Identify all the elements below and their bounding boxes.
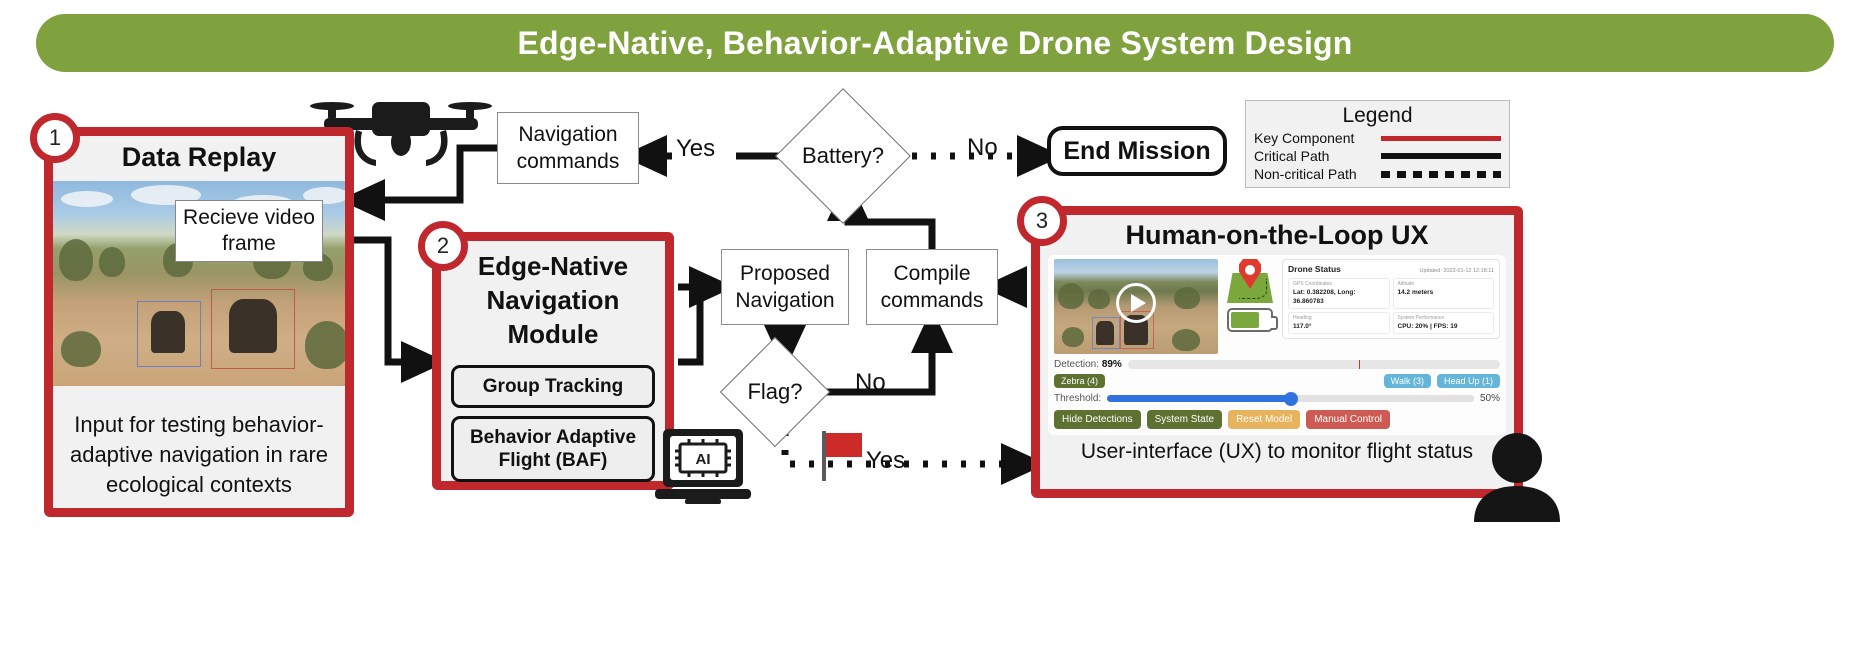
threshold-value: 50% — [1480, 393, 1500, 404]
drone-status-header: Drone Status Updated: 2023-01-12 12:18:1… — [1288, 264, 1494, 274]
tag-head-up[interactable]: Head Up (1) — [1437, 374, 1500, 388]
legend: Legend Key Component Critical Path Non-c… — [1245, 100, 1510, 188]
system-state-button[interactable]: System State — [1147, 410, 1222, 429]
battery-decision-label: Battery? — [795, 108, 891, 204]
panel-data-replay: Data Replay Input for testing behavior-a… — [44, 127, 354, 517]
page-title: Edge-Native, Behavior-Adaptive Drone Sys… — [517, 25, 1352, 62]
diagram-canvas: Edge-Native, Behavior-Adaptive Drone Sys… — [0, 0, 1870, 650]
legend-label-critical-path: Critical Path — [1254, 148, 1329, 164]
detection-value: 89% — [1102, 359, 1122, 370]
legend-label-non-critical-path: Non-critical Path — [1254, 166, 1357, 182]
panel-1-title: Data Replay — [53, 136, 345, 181]
navigation-commands-box: Navigation commands — [497, 112, 639, 184]
ux-top-row: Drone Status Updated: 2023-01-12 12:18:1… — [1054, 259, 1500, 354]
ux-map-column — [1224, 259, 1276, 332]
drone-status-updated: Updated: 2023-01-12 12:18:11 — [1419, 268, 1494, 274]
panel-human-on-the-loop-ux: Human-on-the-Loop UX — [1031, 206, 1523, 498]
legend-row-key-component: Key Component — [1254, 129, 1501, 147]
submodule-behavior-adaptive-flight[interactable]: Behavior Adaptive Flight (BAF) — [451, 416, 655, 482]
edge-label-yes-battery: Yes — [676, 135, 715, 163]
hide-detections-button[interactable]: Hide Detections — [1054, 410, 1141, 429]
map-pin-icon — [1225, 259, 1275, 303]
detection-tag-row: Zebra (4) Walk (3) Head Up (1) — [1054, 374, 1500, 388]
ux-button-row: Hide Detections System State Reset Model… — [1054, 410, 1500, 429]
panel-1-caption: Input for testing behavior-adaptive navi… — [53, 404, 345, 508]
svg-text:AI: AI — [696, 451, 711, 468]
legend-row-critical-path: Critical Path — [1254, 147, 1501, 165]
threshold-row: Threshold: 50% — [1054, 393, 1500, 404]
status-cell-altitude: Altitude 14.2 meters — [1393, 278, 1495, 309]
legend-swatch-critical-path — [1381, 153, 1501, 159]
panel-3-title: Human-on-the-Loop UX — [1040, 215, 1514, 255]
edge-label-no-flag: No — [855, 369, 886, 397]
detection-progress-bar — [1128, 360, 1500, 369]
play-icon[interactable] — [1116, 283, 1156, 323]
legend-swatch-key-component — [1381, 136, 1501, 141]
person-icon — [1472, 432, 1562, 522]
drone-status-title: Drone Status — [1288, 264, 1341, 274]
edge-label-no-battery: No — [967, 134, 998, 162]
submodule-group-tracking[interactable]: Group Tracking — [451, 365, 655, 408]
legend-swatch-non-critical-path — [1381, 171, 1501, 178]
manual-control-button[interactable]: Manual Control — [1306, 410, 1390, 429]
detection-row: Detection: 89% — [1054, 359, 1500, 370]
drone-status-grid: GPS Coordinates Lat: 0.382208, Long: 36.… — [1288, 278, 1494, 334]
flag-decision-label: Flag? — [736, 353, 814, 431]
ux-card: Drone Status Updated: 2023-01-12 12:18:1… — [1048, 255, 1506, 435]
panel-1-number: 1 — [30, 113, 80, 163]
tag-walk[interactable]: Walk (3) — [1384, 374, 1431, 388]
end-mission-terminator: End Mission — [1047, 126, 1227, 176]
battery-decision-diamond: Battery? — [795, 108, 891, 204]
panel-3-caption: User-interface (UX) to monitor flight st… — [1040, 435, 1514, 464]
legend-label-key-component: Key Component — [1254, 130, 1354, 146]
red-flag-icon — [818, 429, 864, 481]
panel-edge-native-navigation-module: Edge-Native Navigation Module Group Trac… — [432, 232, 674, 490]
legend-title: Legend — [1254, 103, 1501, 129]
status-cell-heading: Heading 117.0° — [1288, 312, 1390, 334]
detection-label: Detection: 89% — [1054, 359, 1122, 370]
panel-2-number: 2 — [418, 221, 468, 271]
reset-model-button[interactable]: Reset Model — [1228, 410, 1300, 429]
edge-label-yes-flag: Yes — [866, 447, 905, 475]
battery-icon — [1227, 308, 1273, 332]
panel-2-title: Edge-Native Navigation Module — [441, 241, 665, 357]
flag-decision-diamond: Flag? — [736, 353, 814, 431]
status-cell-gps: GPS Coordinates Lat: 0.382208, Long: 36.… — [1288, 278, 1390, 309]
drone-status-panel: Drone Status Updated: 2023-01-12 12:18:1… — [1282, 259, 1500, 339]
threshold-label: Threshold: — [1054, 393, 1101, 404]
ux-video-preview[interactable] — [1054, 259, 1218, 354]
page-title-banner: Edge-Native, Behavior-Adaptive Drone Sys… — [36, 14, 1834, 72]
tag-species[interactable]: Zebra (4) — [1054, 374, 1105, 388]
panel-3-number: 3 — [1017, 196, 1067, 246]
proposed-navigation-box: Proposed Navigation — [721, 249, 849, 325]
laptop-ai-icon: AI — [653, 427, 753, 505]
compile-commands-box: Compile commands — [866, 249, 998, 325]
receive-video-frame-box: Recieve video frame — [175, 200, 323, 262]
threshold-slider[interactable] — [1107, 395, 1474, 402]
legend-row-non-critical-path: Non-critical Path — [1254, 165, 1501, 183]
status-cell-system-performance: System Performance CPU: 20% | FPS: 19 — [1393, 312, 1495, 334]
behavior-tags: Walk (3) Head Up (1) — [1384, 374, 1500, 388]
